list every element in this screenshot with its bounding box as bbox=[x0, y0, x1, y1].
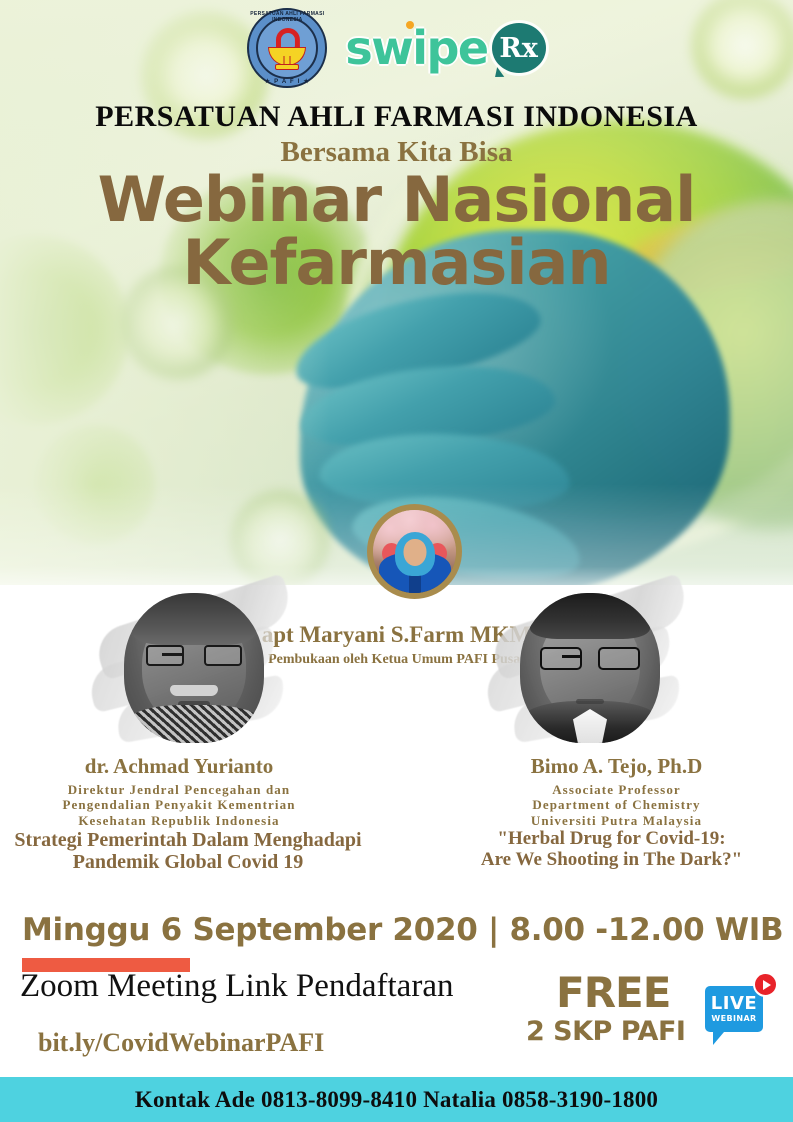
speaker-name-left: dr. Achmad Yurianto bbox=[0, 754, 400, 779]
hair bbox=[132, 593, 256, 645]
badge-live-label: LIVE bbox=[711, 995, 757, 1013]
affiliation-line: Universiti Putra Malaysia bbox=[440, 813, 793, 828]
affiliation-line: Pengendalian Penyakit Kementrian bbox=[0, 797, 400, 812]
hair bbox=[530, 593, 650, 639]
topic-line: Pandemik Global Covid 19 bbox=[0, 851, 400, 873]
topic-line: Are We Shooting in The Dark?" bbox=[430, 850, 793, 871]
live-webinar-badge-icon: LIVE WEBINAR bbox=[700, 972, 780, 1050]
credits-label: 2 SKP PAFI bbox=[526, 1016, 685, 1047]
topic-line: Strategi Pemerintah Dalam Menghadapi bbox=[0, 829, 400, 851]
topic-line: "Herbal Drug for Covid-19: bbox=[430, 829, 793, 850]
speaker-affiliation-right: Associate Professor Department of Chemis… bbox=[440, 782, 793, 828]
badge-webinar-label: WEBINAR bbox=[711, 1015, 756, 1023]
contact-text: Kontak Ade 0813-8099-8410 Natalia 0858-3… bbox=[135, 1087, 658, 1113]
affiliation-line: Direktur Jendral Pencegahan dan bbox=[0, 782, 400, 797]
speaker-face-left bbox=[124, 593, 264, 743]
webinar-poster: PERSATUAN AHLI FARMASI INDONESIA ★ P A F… bbox=[0, 0, 793, 1122]
affiliation-line: Associate Professor bbox=[440, 782, 793, 797]
speaker-card-right: Bimo A. Tejo, Ph.D Associate Professor D… bbox=[400, 585, 793, 871]
pafi-logo-icon: PERSATUAN AHLI FARMASI INDONESIA ★ P A F… bbox=[247, 8, 327, 88]
title-line-2: Kefarmasian bbox=[0, 231, 793, 294]
title-line-1: Webinar Nasional bbox=[98, 163, 696, 236]
speaker-name-right: Bimo A. Tejo, Ph.D bbox=[440, 754, 793, 779]
event-datetime: Minggu 6 September 2020 | 8.00 -12.00 WI… bbox=[22, 912, 783, 948]
moderator-avatar bbox=[367, 504, 462, 599]
swiperx-logo-icon: swipe Rx bbox=[345, 23, 545, 73]
organization-name: PERSATUAN AHLI FARMASI INDONESIA bbox=[0, 100, 793, 134]
pafi-logo-top-text: PERSATUAN AHLI FARMASI INDONESIA bbox=[247, 11, 327, 23]
speaker-topic-left: Strategi Pemerintah Dalam Menghadapi Pan… bbox=[0, 829, 400, 873]
glasses-icon bbox=[146, 645, 242, 667]
glasses-icon bbox=[540, 647, 640, 671]
speaker-topic-right: "Herbal Drug for Covid-19: Are We Shooti… bbox=[430, 829, 793, 871]
batik-shirt bbox=[128, 705, 262, 743]
price-label: FREE bbox=[556, 968, 670, 1017]
speaker-portrait-right bbox=[484, 585, 709, 750]
affiliation-line: Department of Chemistry bbox=[440, 797, 793, 812]
glasses-bridge bbox=[562, 655, 580, 658]
rx-label: Rx bbox=[499, 35, 538, 62]
play-button-icon bbox=[753, 972, 778, 997]
mouth bbox=[576, 699, 604, 704]
moustache bbox=[170, 685, 218, 696]
logo-row: PERSATUAN AHLI FARMASI INDONESIA ★ P A F… bbox=[0, 4, 793, 92]
registration-label: Zoom Meeting Link Pendaftaran bbox=[20, 968, 453, 1005]
rx-speech-bubble-icon: Rx bbox=[492, 23, 546, 73]
speaker-face-right bbox=[520, 593, 660, 743]
swipe-wordmark: swipe bbox=[345, 25, 487, 71]
play-triangle bbox=[763, 980, 771, 990]
speaker-card-left: dr. Achmad Yurianto Direktur Jendral Pen… bbox=[0, 585, 400, 873]
page-title: Webinar Nasional Kefarmasian bbox=[0, 168, 793, 294]
contact-footer: Kontak Ade 0813-8099-8410 Natalia 0858-3… bbox=[0, 1077, 793, 1122]
pafi-logo-bottom-text: ★ P A F I ★ bbox=[247, 78, 327, 85]
glasses-bridge bbox=[162, 653, 182, 656]
affiliation-line: Kesehatan Republik Indonesia bbox=[0, 813, 400, 828]
avatar-face bbox=[403, 539, 426, 566]
registration-link[interactable]: bit.ly/CovidWebinarPAFI bbox=[38, 1028, 324, 1058]
speaker-affiliation-left: Direktur Jendral Pencegahan dan Pengenda… bbox=[0, 782, 400, 828]
speaker-portrait-left bbox=[88, 585, 313, 750]
bowl-base bbox=[275, 64, 299, 70]
pafi-inner-circle bbox=[256, 17, 318, 79]
